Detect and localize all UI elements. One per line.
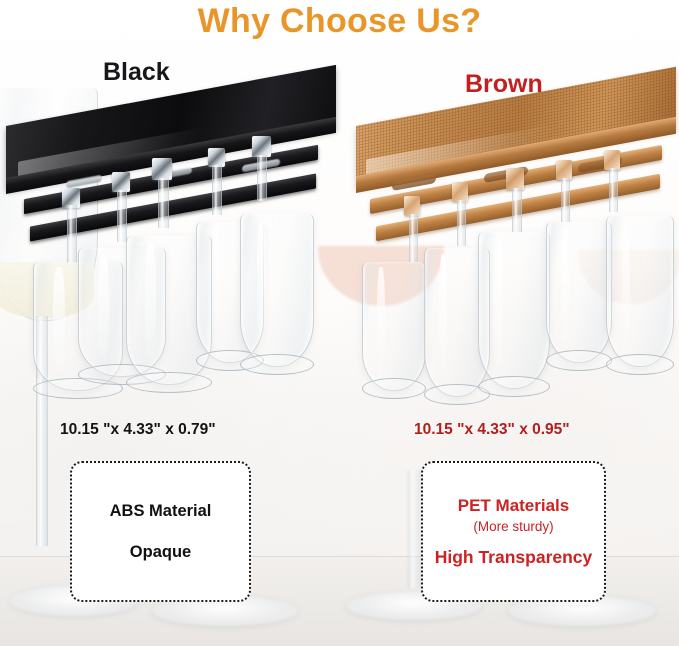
callout-transparency-brown: High Transparency	[435, 547, 593, 568]
callout-opacity-black: Opaque	[130, 543, 191, 562]
dimensions-black: 10.15 "x 4.33" x 0.79"	[60, 421, 216, 439]
brown-rack	[356, 126, 676, 236]
callout-box-black: ABS Material Opaque	[70, 461, 251, 602]
callout-sturdy-note-brown: (More sturdy)	[473, 519, 553, 534]
callout-material-black: ABS Material	[110, 502, 212, 521]
column-label-black: Black	[103, 58, 170, 87]
dimensions-brown: 10.15 "x 4.33" x 0.95"	[414, 421, 570, 439]
callout-box-brown: PET Materials (More sturdy) High Transpa…	[421, 461, 606, 602]
black-rack	[6, 126, 336, 236]
page-title: Why Choose Us?	[0, 2, 679, 41]
callout-material-brown: PET Materials	[458, 496, 570, 516]
product-comparison-image: Why Choose Us? Black Brown 10.15 "x 4.33…	[0, 0, 679, 646]
column-label-brown: Brown	[465, 70, 543, 99]
